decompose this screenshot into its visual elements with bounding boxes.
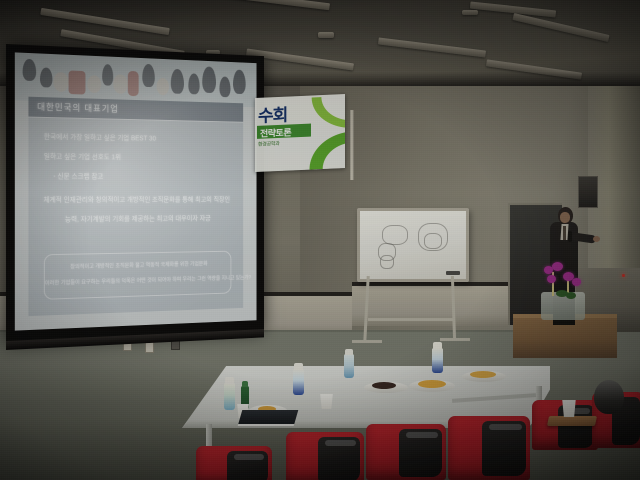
- snack-food: [470, 371, 496, 378]
- whiteboard-foot: [440, 338, 470, 341]
- slide-note-line: 이러한 기업들이 요구하는 우리들의 덕목은 어떤 것이 되어야 하며 우리는 …: [45, 274, 231, 287]
- slide-bullet: 능력, 자기계발의 기회를 제공하는 최고의 대우이자 자긍: [28, 213, 243, 224]
- banner-footnote: 환경공학과: [258, 140, 280, 148]
- slide-body: 한국에서 가장 일하고 싶은 기업 BEST 30 일하고 싶은 기업 선호도 …: [28, 117, 243, 317]
- loudspeaker-icon: [578, 176, 598, 208]
- ceiling-vent-icon: [318, 32, 334, 38]
- event-banner: 수회 전략토론 환경공학과: [255, 94, 345, 172]
- slide-bullet: 체계적 인재관리와 창의적이고 개방적인 조직문화를 통해 최고의 직장인: [28, 195, 243, 205]
- seat-highlight: [325, 440, 356, 446]
- water-bottle: [293, 369, 304, 395]
- projection-screen: 대한민국의 대표기업 한국에서 가장 일하고 싶은 기업 BEST 30 일하고…: [6, 44, 264, 344]
- seat-highlight: [234, 454, 264, 460]
- banner-headline: 수회: [258, 101, 287, 127]
- auditorium-seat[interactable]: [196, 446, 272, 480]
- slide-bullet: 한국에서 가장 일하고 싶은 기업 BEST 30: [28, 131, 256, 145]
- auditorium-seat[interactable]: [366, 424, 446, 480]
- water-bottle: [432, 348, 443, 373]
- bottle-cap-icon: [242, 381, 248, 387]
- attendee-head: [594, 380, 624, 414]
- ceiling-light-fixture: [378, 37, 486, 57]
- presenter-tie: [563, 226, 566, 240]
- photograph-seminar-room: 대한민국의 대표기업 한국에서 가장 일하고 싶은 기업 BEST 30 일하고…: [0, 0, 640, 480]
- ceiling-light-fixture: [486, 59, 582, 79]
- slide-bullet: 일하고 싶은 기업 선호도 1위: [28, 151, 256, 163]
- bottle-cap-icon: [345, 349, 353, 355]
- seat-highlight: [489, 424, 522, 430]
- orchid-leaf: [566, 292, 576, 299]
- whiteboard-foot: [352, 340, 382, 343]
- ceiling-vent-icon: [462, 10, 478, 15]
- whiteboard-crossbar: [368, 318, 454, 321]
- slide-title: 대한민국의 대표기업: [37, 100, 119, 115]
- water-bottle: [344, 354, 354, 378]
- banner-pole: [350, 110, 354, 180]
- ceiling-light-fixture: [512, 13, 609, 42]
- presenter-hand: [593, 236, 600, 242]
- slide-note-box: 창의적이고 개방적인 조직문화 젊고 역동적 국제화를 위한 기업문화 이러한 …: [44, 251, 232, 300]
- status-led-icon: [622, 274, 625, 277]
- auditorium-seat[interactable]: [286, 432, 364, 480]
- slide-note-line: 창의적이고 개방적인 조직문화 젊고 역동적 국제화를 위한 기업문화: [45, 259, 231, 271]
- orchid-flower: [547, 275, 556, 283]
- tablet-arm[interactable]: [547, 416, 597, 426]
- marker-tray-icon: [446, 271, 460, 275]
- snack-food: [418, 380, 446, 388]
- black-folder: [238, 410, 299, 426]
- seat-highlight: [406, 432, 438, 438]
- orchid-flower: [572, 278, 581, 286]
- banner-subhead-box: 전략토론: [257, 124, 311, 139]
- water-bottle: [224, 383, 235, 410]
- bottle-cap-icon: [433, 342, 442, 349]
- bottle-cap-icon: [294, 363, 303, 370]
- whiteboard: [357, 208, 469, 282]
- auditorium-seat[interactable]: [448, 416, 530, 480]
- slide-bullet: - 신문 스크랩 참고: [28, 171, 256, 182]
- presenter-face: [560, 212, 570, 223]
- ceiling-light-fixture: [210, 0, 330, 10]
- bottle-cap-icon: [225, 377, 234, 384]
- orchid-flower: [552, 262, 563, 271]
- snack-food: [372, 382, 396, 389]
- ceiling-light-fixture: [40, 8, 169, 35]
- microphone-icon: [568, 231, 572, 242]
- presentation-slide: 대한민국의 대표기업 한국에서 가장 일하고 싶은 기업 BEST 30 일하고…: [15, 52, 257, 330]
- banner-subhead: 전략토론: [260, 125, 291, 139]
